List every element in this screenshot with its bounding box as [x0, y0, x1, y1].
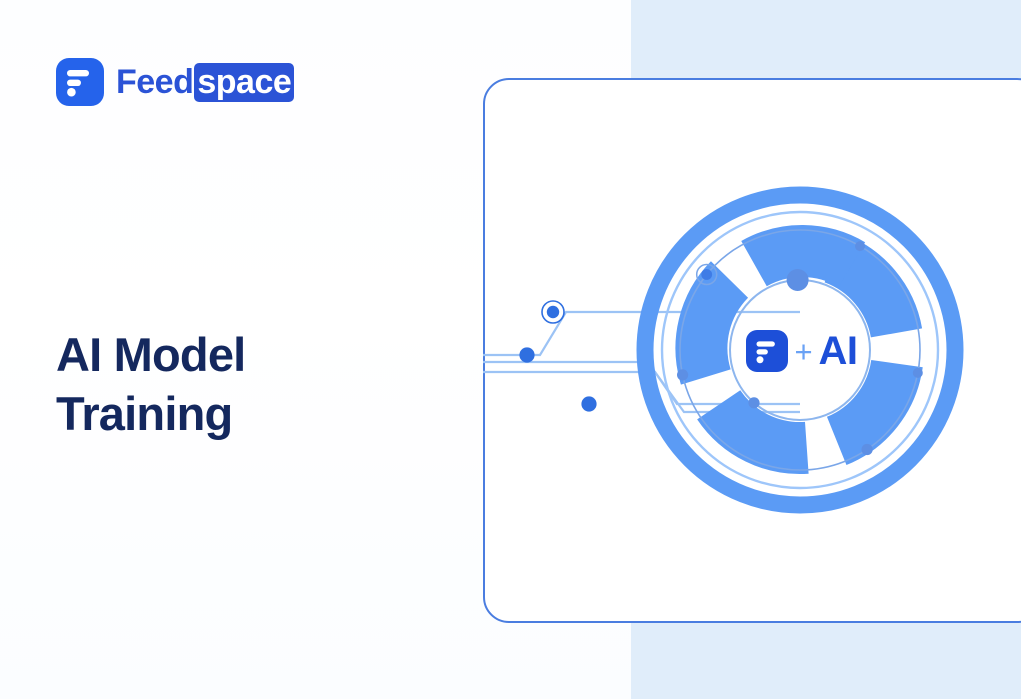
illustration-panel	[483, 78, 1021, 623]
brand-word-primary: Feed	[116, 65, 193, 99]
brand-word-highlight: space	[194, 63, 294, 102]
feedspace-logo-icon	[56, 58, 104, 106]
brand-wordmark: Feedspace	[116, 63, 294, 102]
slide-canvas: Feedspace AI Model Training	[0, 0, 1021, 699]
page-title: AI Model Training	[56, 326, 416, 444]
page-title-line-2: Training	[56, 387, 232, 440]
brand-logo[interactable]: Feedspace	[56, 58, 294, 106]
page-title-line-1: AI Model	[56, 328, 245, 381]
